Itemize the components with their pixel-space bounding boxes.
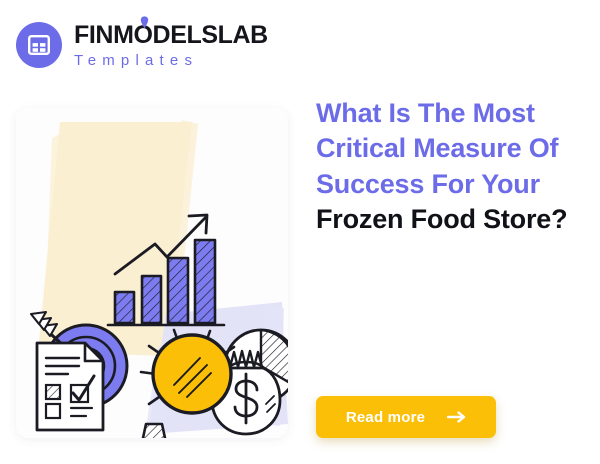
- illustration-card: [16, 108, 288, 438]
- brand-name-text: FINMODELSLAB: [74, 21, 268, 49]
- headline-secondary: Frozen Food Store?: [316, 204, 567, 234]
- document-checklist-icon: [37, 343, 103, 430]
- arrow-right-icon: [447, 411, 466, 423]
- business-success-illustration: [16, 108, 288, 438]
- promo-banner: FINMODELSLAB Templates: [0, 0, 600, 464]
- page-title: What Is The Most Critical Measure Of Suc…: [316, 96, 588, 237]
- brand-subtitle: Templates: [74, 53, 268, 68]
- content-column: What Is The Most Critical Measure Of Suc…: [316, 96, 588, 237]
- brand-wordmark: FINMODELSLAB Templates: [74, 23, 268, 68]
- read-more-label: Read more: [346, 409, 425, 426]
- grid-table-icon: [16, 22, 62, 68]
- brand-name: FINMODELSLAB: [74, 23, 268, 48]
- gold-coin-icon: [153, 335, 231, 413]
- read-more-button[interactable]: Read more: [316, 396, 496, 438]
- brand-logo[interactable]: FINMODELSLAB Templates: [16, 22, 268, 68]
- map-pin-icon: [140, 16, 149, 29]
- headline-primary: What Is The Most Critical Measure Of Suc…: [316, 98, 558, 199]
